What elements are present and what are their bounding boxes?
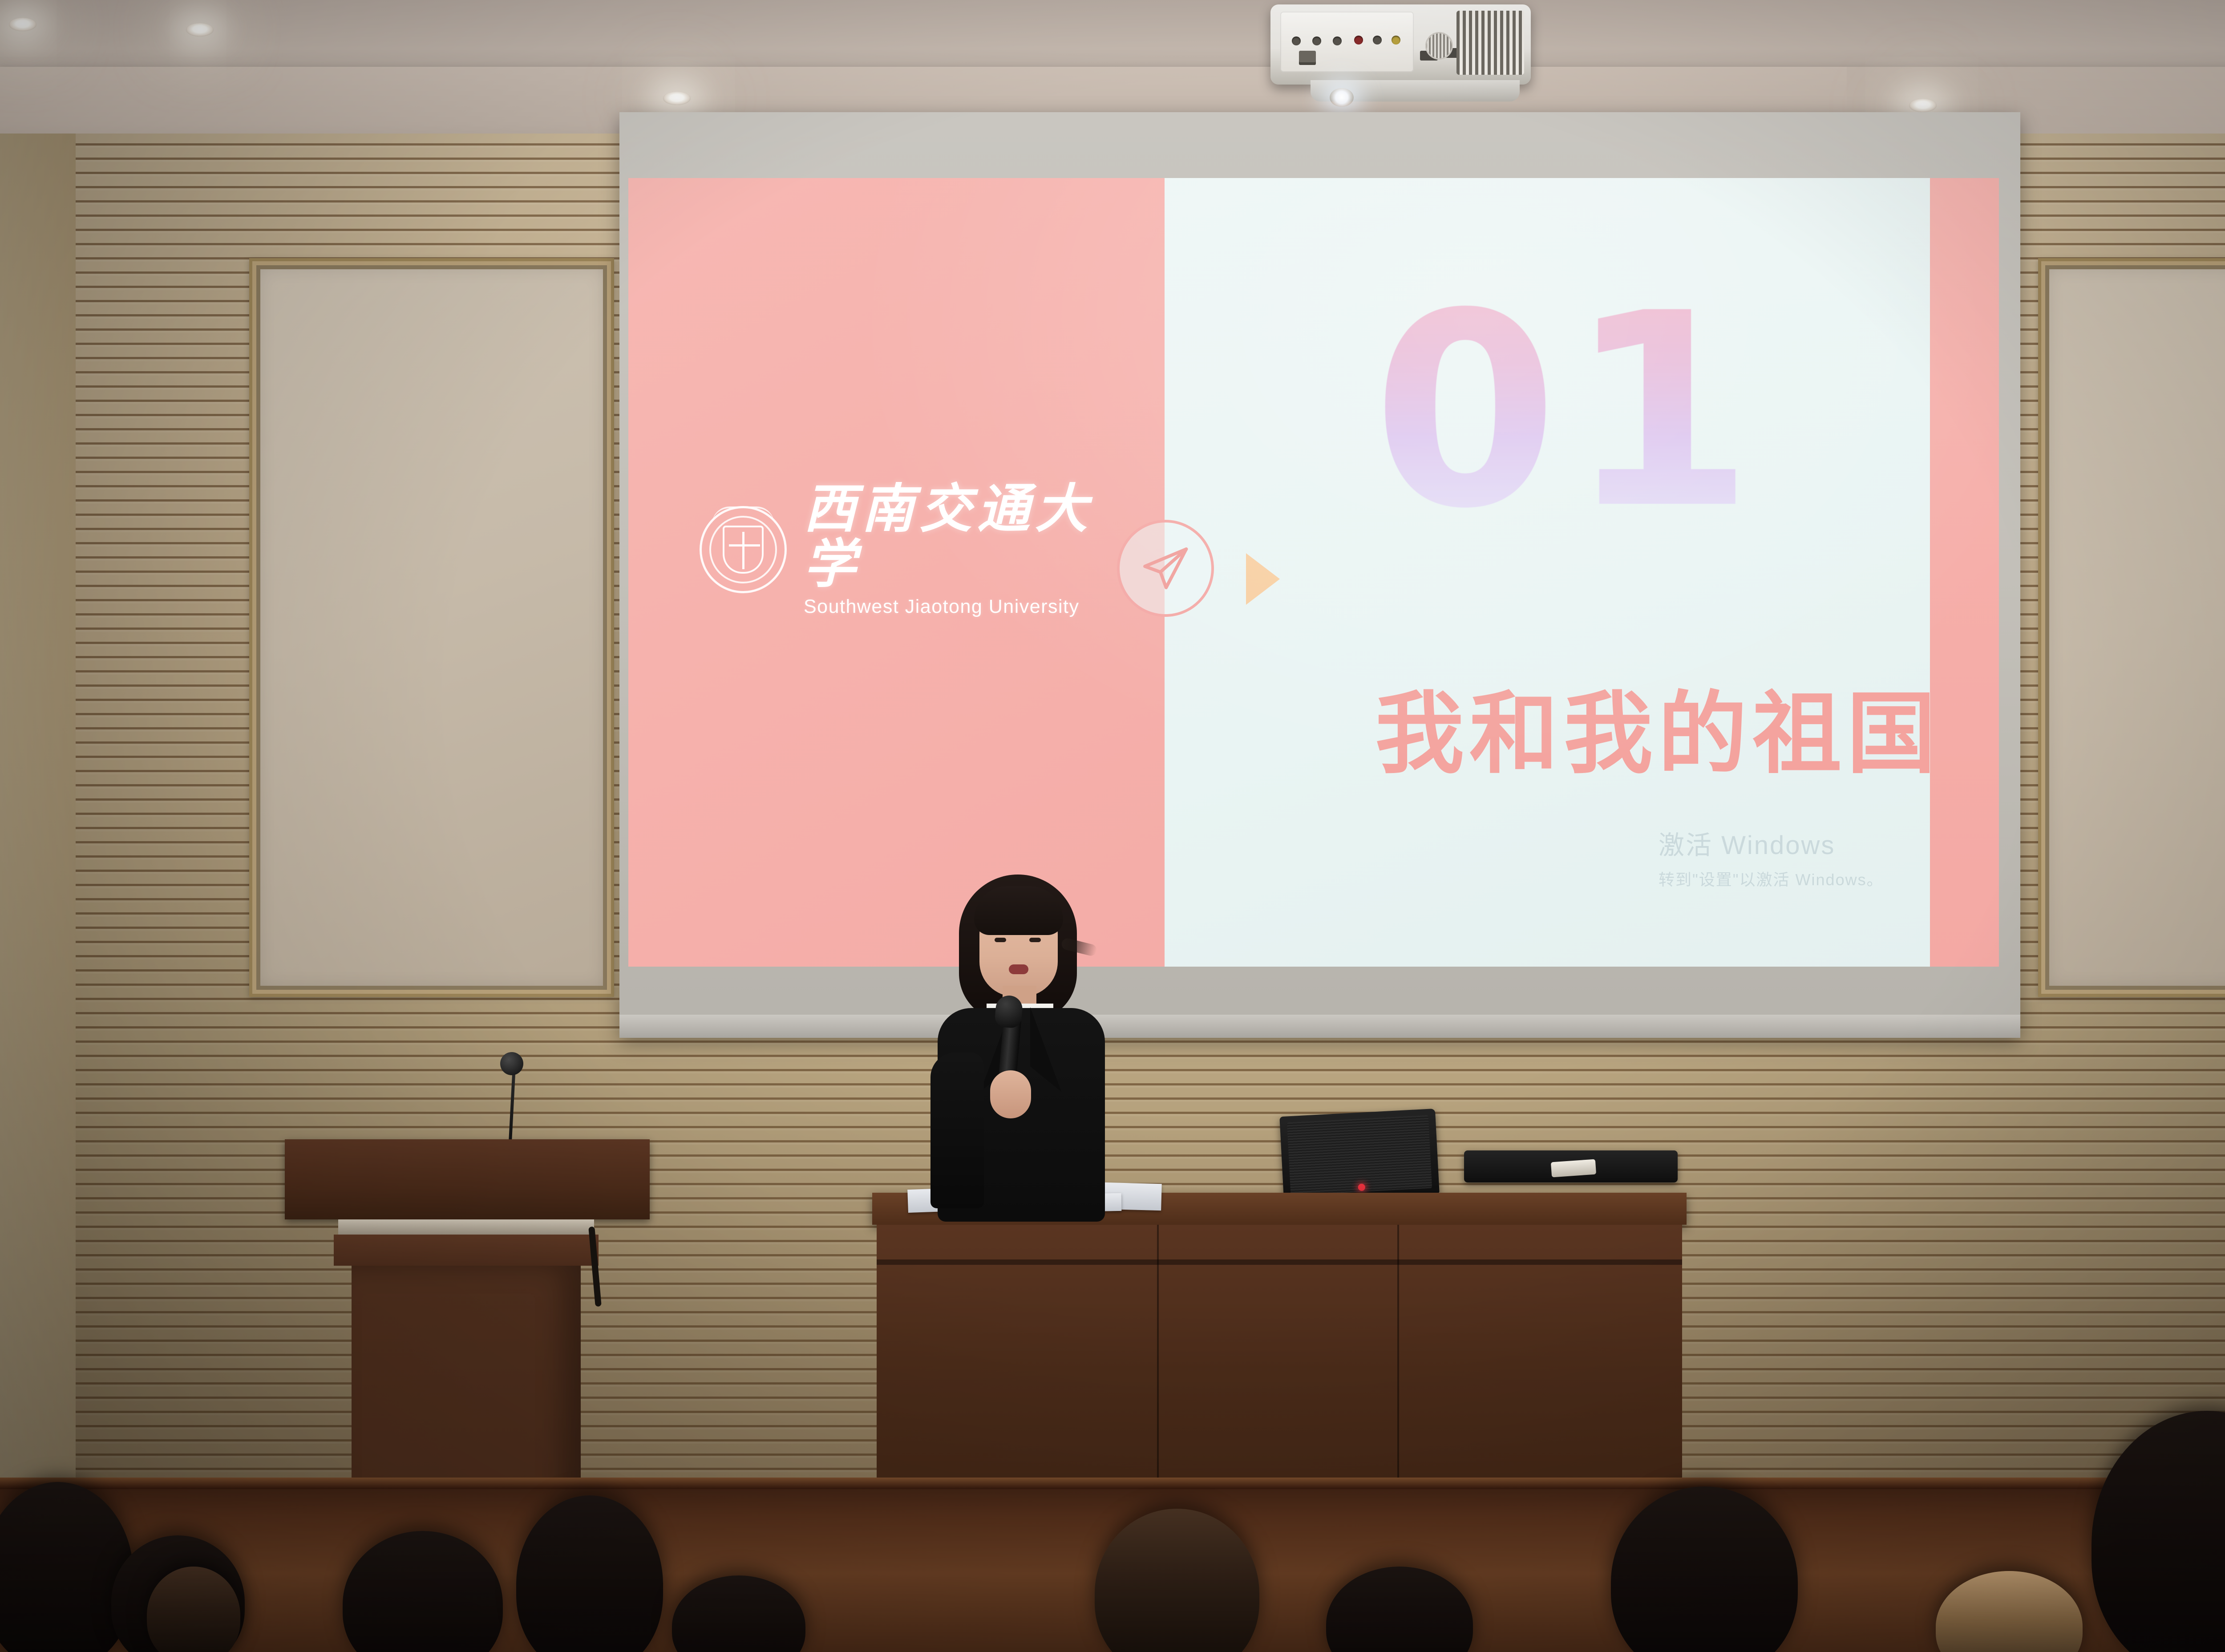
monitor-screen	[1287, 1115, 1432, 1195]
projector-exhaust-grill-icon	[1456, 11, 1524, 75]
arm	[930, 1053, 984, 1208]
hand	[990, 1070, 1031, 1118]
windows-activation-watermark: 激活 Windows 转到"设置"以激活 Windows。	[1659, 824, 1884, 890]
podium-ledge	[338, 1219, 594, 1235]
university-name-en: Southwest Jiaotong University	[804, 596, 1149, 618]
wall-panel-surface	[2045, 265, 2225, 990]
university-logo-text: 西南交通大学 Southwest Jiaotong University	[804, 482, 1149, 618]
seal-shield-icon	[723, 526, 764, 574]
podium-cable	[588, 1227, 602, 1307]
framed-wall-panel	[2038, 258, 2225, 997]
desk-rail	[877, 1259, 1682, 1265]
confidence-monitor	[1279, 1109, 1439, 1201]
microphone-icon	[500, 1052, 523, 1075]
stage-trim	[0, 1478, 2225, 1489]
university-seal-icon	[700, 506, 787, 593]
recessed-downlight-icon	[1909, 99, 1937, 112]
auditorium-scene: 西南交通大学 Southwest Jiaotong University 01 …	[0, 0, 2225, 1652]
university-name-cn: 西南交通大学	[804, 482, 1149, 592]
paper-plane-icon	[1117, 520, 1214, 617]
projector-lan-port-icon	[1299, 51, 1316, 65]
projected-slide: 西南交通大学 Southwest Jiaotong University 01 …	[628, 178, 1999, 967]
play-triangle-icon	[1246, 553, 1280, 605]
podium-neck	[334, 1235, 599, 1266]
projector-port-icon	[1333, 36, 1342, 45]
student-presenter	[928, 875, 1115, 1222]
seal-arc	[712, 506, 774, 524]
watermark-line-2: 转到"设置"以激活 Windows。	[1659, 867, 1884, 890]
eye	[995, 938, 1006, 942]
section-title: 我和我的祖国	[1375, 690, 1941, 779]
recessed-downlight-icon	[186, 23, 214, 36]
wall-panel-surface	[256, 265, 607, 990]
projector-lens-icon	[1330, 88, 1354, 107]
podium-top-surface	[285, 1139, 650, 1219]
eye	[1029, 938, 1041, 942]
university-logo: 西南交通大学 Southwest Jiaotong University	[700, 490, 1149, 610]
slide-right-pink-stripe	[1930, 178, 1999, 967]
remote-control	[1551, 1159, 1596, 1178]
framed-wall-panel	[249, 258, 614, 997]
mouth	[1009, 964, 1028, 974]
wall-left-column	[0, 134, 76, 1482]
hair-fringe	[974, 886, 1063, 935]
recessed-downlight-icon	[663, 92, 691, 105]
projector-port-icon	[1292, 36, 1301, 45]
section-number: 01	[1372, 285, 1764, 539]
screen-bottom-bar	[619, 1015, 2020, 1038]
projector-port-icon	[1312, 36, 1321, 45]
recessed-downlight-icon	[9, 18, 36, 31]
watermark-line-1: 激活 Windows	[1659, 824, 1884, 862]
